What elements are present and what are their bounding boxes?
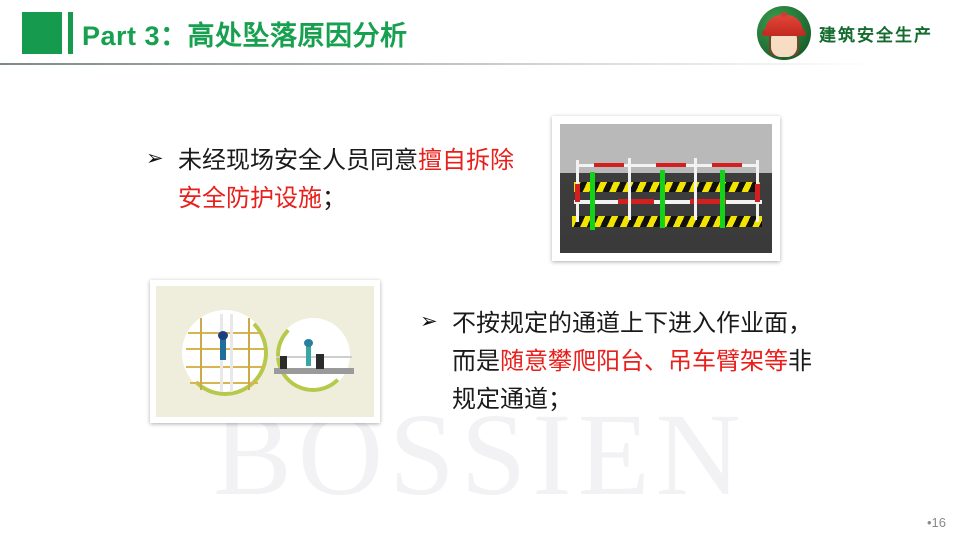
railing-green-post [720, 170, 725, 228]
page-number: •16 [927, 515, 946, 530]
bullet-text-2: 不按规定的通道上下进入作业面，而是随意攀爬阳台、吊车臂架等非规定通道； [452, 305, 820, 419]
scaffold-post [248, 318, 250, 390]
safety-railing-photo [552, 116, 780, 261]
railing-hazard-stripe [574, 182, 760, 192]
bullet-marker-icon: ➢ [420, 305, 438, 338]
railing-red-post-seg [575, 184, 580, 202]
logo-helmet-dome [765, 15, 803, 34]
page-title: Part 3：高处坠落原因分析 [82, 14, 408, 53]
access-scene [156, 286, 374, 417]
bullet-text-1: 未经现场安全人员同意擅自拆除安全防护设施； [178, 142, 526, 218]
bullet-1-segment-1: 未经现场安全人员同意 [178, 146, 418, 174]
railing-hazard-stripe [572, 216, 762, 227]
railing-red-seg [656, 163, 686, 167]
logo-helmet-knob [781, 12, 787, 17]
worker-helmet-icon [757, 6, 811, 60]
header-accent-block [22, 12, 62, 54]
header-accent-bar [68, 12, 73, 54]
platform-box [316, 354, 324, 369]
platform-guardrail [276, 356, 352, 358]
worker-figure-right [306, 346, 311, 366]
brand-logo: 建筑安全生产 [757, 6, 957, 62]
worker-head-right [304, 339, 313, 347]
bullet-2-segment-2: 随意攀爬阳台、吊车臂架等 [500, 347, 788, 375]
railing-red-post-seg [755, 184, 760, 202]
scaffold-rail [186, 366, 264, 368]
worker-head-left [218, 331, 228, 340]
railing-green-post [660, 170, 665, 228]
slide-header: Part 3：高处坠落原因分析 建筑安全生产 [0, 0, 960, 66]
brand-logo-text: 建筑安全生产 [819, 21, 933, 46]
railing-mid-rail [574, 200, 762, 204]
bullet-item-2: ➢ 不按规定的通道上下进入作业面，而是随意攀爬阳台、吊车臂架等非规定通道； [420, 305, 820, 419]
slide-canvas: BOSSIEN Part 3：高处坠落原因分析 建筑安全生产 ➢ 未经现场安全人… [0, 0, 960, 540]
header-divider [0, 63, 955, 65]
railing-red-seg [594, 163, 624, 167]
railing-green-post [590, 172, 595, 230]
bullet-marker-icon: ➢ [146, 142, 164, 175]
railing-scene [560, 124, 772, 253]
platform-box [280, 356, 287, 369]
bullet-item-1: ➢ 未经现场安全人员同意擅自拆除安全防护设施； [146, 142, 526, 218]
railing-white-post [628, 158, 631, 220]
access-circle-right-ring [276, 318, 350, 392]
scaffold-post-white [230, 314, 233, 392]
railing-red-seg [712, 163, 742, 167]
railing-red-seg [618, 199, 654, 204]
worker-figure-left [220, 338, 226, 360]
bullet-1-segment-3: ； [322, 184, 346, 212]
improper-access-photo [150, 280, 380, 423]
railing-white-post [694, 158, 697, 220]
scaffold-post [200, 318, 202, 390]
